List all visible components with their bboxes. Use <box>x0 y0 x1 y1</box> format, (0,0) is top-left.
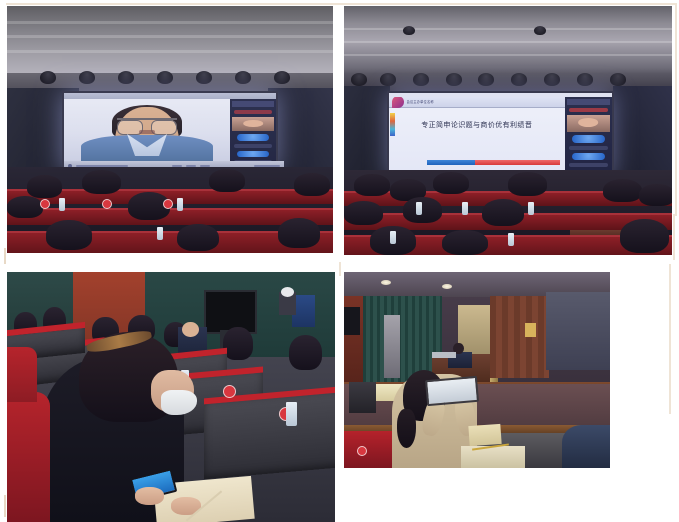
water-bottle <box>528 202 534 215</box>
slide-title: 专正简申论识题与商价优有利绩晋 <box>389 120 565 130</box>
attendee-head <box>639 184 672 206</box>
sidebar-row <box>234 144 273 148</box>
wall-plaque <box>525 323 536 337</box>
ceiling-speaker-icon <box>544 73 560 86</box>
presentation-slide: 会议主办单位名称 专正简申论识题与商价优有利绩晋 <box>389 97 565 171</box>
attendee-head <box>344 201 383 225</box>
photo1-video-feed <box>64 99 229 161</box>
meeting-button <box>572 153 605 161</box>
page-rule-left-lower <box>4 495 6 517</box>
seat-badge <box>40 199 50 209</box>
ceiling-speaker-icon <box>79 71 95 84</box>
seat-back <box>7 347 37 402</box>
photo2-projection-screen: 会议主办单位名称 专正简申论识题与商价优有利绩晋 <box>387 91 614 180</box>
attendee-head <box>177 224 219 252</box>
ceiling-speaker-icon <box>40 71 56 84</box>
slide-accent-bar-blue <box>427 160 475 164</box>
water-bottle <box>416 202 422 215</box>
ceiling-speaker-icon <box>157 71 173 84</box>
ceiling-speaker-icon <box>511 73 527 86</box>
sidebar-row <box>569 146 608 150</box>
face-mask-icon <box>281 287 294 297</box>
photo1-projection-screen <box>62 91 278 172</box>
page-rule-top <box>6 3 677 5</box>
speaker-mouth <box>139 130 155 134</box>
sidebar-alert-row <box>569 108 608 112</box>
attendee-face <box>182 322 198 337</box>
seat-badge <box>223 385 236 398</box>
water-bottle <box>508 233 514 246</box>
page-rule-middle <box>339 262 341 276</box>
seat-back <box>7 392 50 522</box>
ceiling-light-icon <box>442 284 452 289</box>
seat-row <box>204 386 335 480</box>
front-desk-surface <box>461 446 525 468</box>
ceiling-speaker-icon <box>610 73 626 86</box>
photo-bottom-right <box>344 272 610 468</box>
photo1-audience-area <box>7 167 333 253</box>
front-desk <box>349 382 376 413</box>
photo2-ceiling <box>344 6 672 78</box>
holding-hand <box>135 487 165 505</box>
ceiling-speaker-icon <box>380 73 396 86</box>
wall-monitor <box>204 290 257 334</box>
page-rule-right-lower <box>673 214 675 260</box>
attendee-head <box>508 172 547 196</box>
photo2-wall-left <box>344 86 390 181</box>
notepad <box>468 424 501 446</box>
slide-header: 会议主办单位名称 <box>389 97 565 108</box>
attendee-head <box>278 218 320 247</box>
water-bottle <box>157 227 163 240</box>
photo1-meeting-sidebar <box>230 99 277 161</box>
attendee-head <box>289 335 322 370</box>
page-rule-right <box>675 3 677 216</box>
ceiling-light-icon <box>534 26 546 35</box>
attendee-head <box>442 230 488 255</box>
sidebar-row <box>569 163 608 167</box>
attendee-head <box>294 173 330 195</box>
attendee-head <box>620 219 669 253</box>
ceiling-light-icon <box>381 280 391 285</box>
participant-thumbnail <box>567 115 610 132</box>
attendee-head <box>482 199 525 226</box>
wall-display-board <box>546 292 610 370</box>
water-bottle <box>462 202 468 215</box>
sidebar-header <box>567 99 610 105</box>
attendee-head <box>209 169 245 192</box>
attendee-head <box>433 172 469 194</box>
water-bottle <box>177 198 183 211</box>
participant-thumbnail <box>232 117 275 131</box>
photo-collage: 会议主办单位名称 专正简申论识题与商价优有利绩晋 <box>0 0 679 522</box>
water-bottle <box>390 231 396 244</box>
attendee-head <box>46 220 92 249</box>
floor-speaker <box>384 315 400 378</box>
ceiling-light-icon <box>403 26 415 35</box>
ceiling-speaker-icon <box>351 73 367 86</box>
page-rule-right-bottom <box>669 264 671 414</box>
photo-top-left <box>7 6 333 253</box>
side-monitor <box>344 307 360 334</box>
photo-top-right: 会议主办单位名称 专正简申论识题与商价优有利绩晋 <box>344 6 672 255</box>
photo3-blue-banner <box>292 295 315 328</box>
seat-badge <box>102 199 112 209</box>
meeting-button <box>572 135 605 143</box>
attendee-head <box>27 175 63 197</box>
ceiling-speaker-icon <box>446 73 462 86</box>
attendee-head <box>7 196 43 218</box>
slide-header-text: 会议主办单位名称 <box>407 99 434 104</box>
seat-badge <box>163 199 173 209</box>
ceiling-speaker-icon <box>577 73 593 86</box>
slide-accent-bar-red <box>475 160 560 164</box>
podium-laptop <box>432 352 456 358</box>
attendee-ponytail <box>397 409 416 448</box>
page-rule-left <box>4 248 6 264</box>
organization-logo-icon <box>392 97 404 108</box>
ceiling-speaker-icon <box>413 73 429 86</box>
attendee-head <box>403 197 442 222</box>
meeting-button <box>237 151 269 157</box>
photo-bottom-left <box>7 272 335 522</box>
ceiling-speaker-icon <box>118 71 134 84</box>
attendee-head <box>82 170 121 194</box>
sidebar-header <box>232 101 275 107</box>
photo2-audience-area <box>344 170 672 255</box>
neighbouring-attendee <box>562 425 610 468</box>
photo4-wood-wall <box>490 296 549 378</box>
sidebar-alert-row <box>234 110 273 114</box>
attendee-head <box>603 179 642 202</box>
photo2-meeting-sidebar <box>565 97 612 171</box>
water-bottle <box>286 402 297 426</box>
water-bottle <box>59 198 65 211</box>
attendee-head <box>354 174 390 196</box>
smartphone-camera <box>425 376 479 406</box>
attendee-head <box>223 327 253 360</box>
meeting-button <box>237 134 269 140</box>
